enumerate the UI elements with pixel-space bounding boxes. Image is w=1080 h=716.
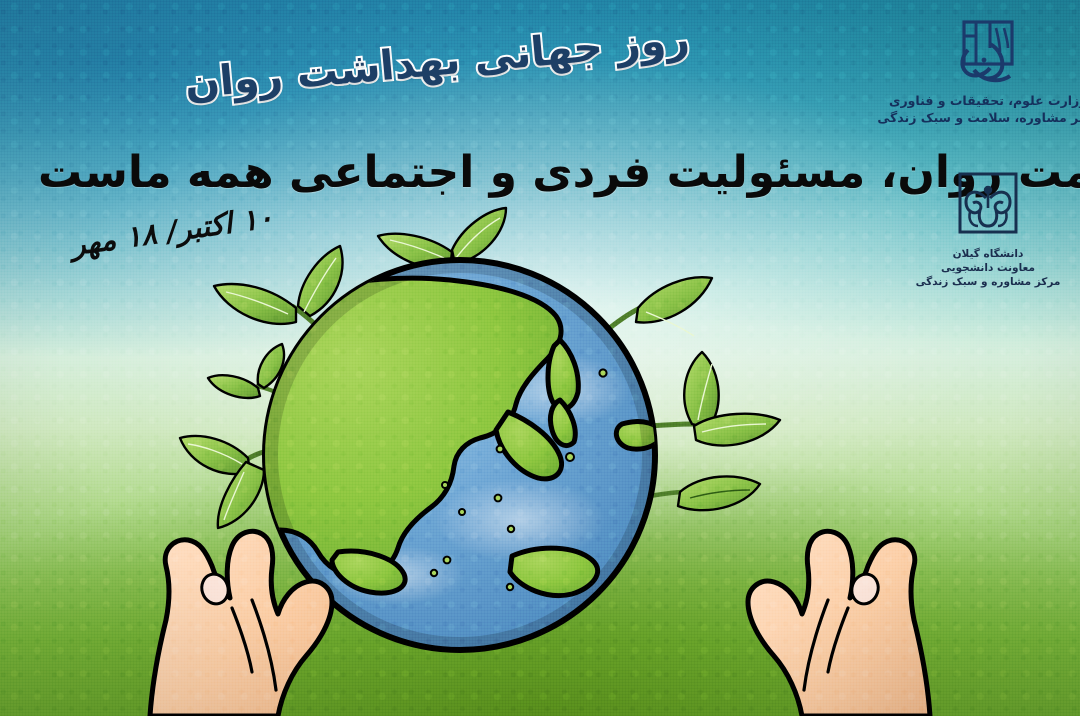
university-logo-caption: دانشگاه گیلان معاونت دانشجویی مرکز مشاور… xyxy=(916,247,1061,290)
leaf-sprout-upper-left xyxy=(214,246,342,340)
leaf-lower-right xyxy=(640,476,760,510)
university-of-guilan-emblem-icon xyxy=(950,168,1026,244)
poster-date: ۱۰ اکتبر/ ۱۸ مهر xyxy=(70,194,274,267)
island-dots xyxy=(431,369,607,590)
right-hand xyxy=(748,531,930,716)
leaf-sprout-lower-left xyxy=(180,436,288,528)
left-hand xyxy=(150,531,332,716)
leaf-sprout-right-middle xyxy=(618,352,780,446)
university-logo-block: دانشگاه گیلان معاونت دانشجویی مرکز مشاور… xyxy=(900,168,1076,290)
ministry-line-1: وزارت علوم، تحقیقات و فناوری xyxy=(877,93,1080,110)
leaf-sprouts-group xyxy=(180,208,780,528)
poster-canvas: روز جهانی بهداشت روان سلامت روان، مسئولی… xyxy=(0,0,1080,716)
poster-top-title: روز جهانی بهداشت روان xyxy=(219,0,655,123)
university-line-2: معاونت دانشجویی xyxy=(916,261,1061,275)
ministry-logo-caption: وزارت علوم، تحقیقات و فناوری دفتر مشاوره… xyxy=(877,93,1080,127)
leaf-sprout-mid-left xyxy=(208,344,290,400)
university-line-1: دانشگاه گیلان xyxy=(916,247,1061,261)
globe xyxy=(241,260,662,650)
sazman-omour-daneshjouyan-emblem-icon xyxy=(950,14,1026,90)
ministry-logo-block: وزارت علوم، تحقیقات و فناوری دفتر مشاوره… xyxy=(900,14,1076,127)
ministry-line-2: دفتر مشاوره، سلامت و سبک زندگی xyxy=(877,110,1080,127)
leaf-sprout-upper-right xyxy=(600,277,712,336)
poster-headline: سلامت روان، مسئولیت فردی و اجتماعی همه م… xyxy=(38,140,918,204)
university-line-3: مرکز مشاوره و سبک زندگی xyxy=(916,275,1061,289)
continents xyxy=(241,278,662,595)
leaf-sprout-top xyxy=(378,208,506,300)
